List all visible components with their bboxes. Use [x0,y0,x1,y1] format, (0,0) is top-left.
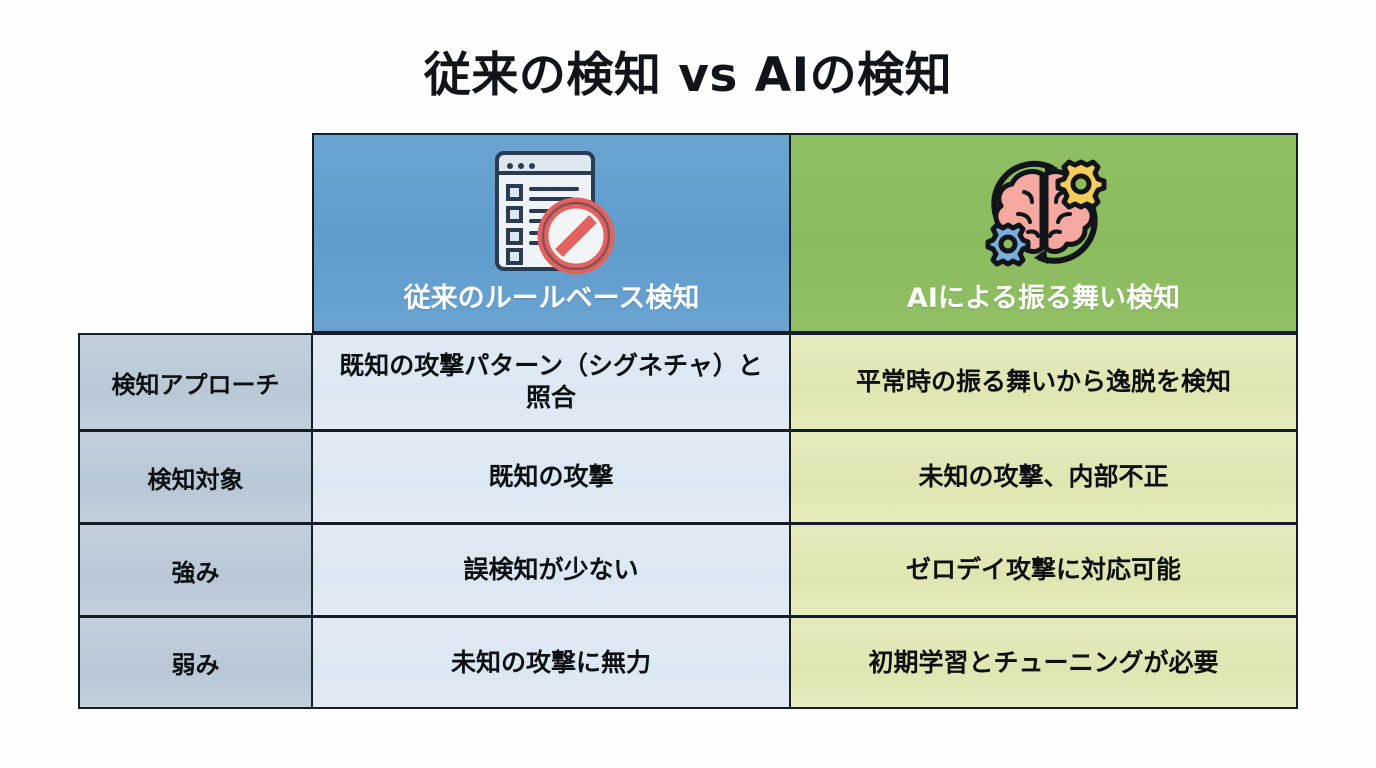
row-label: 検知対象 [78,430,312,523]
row-label: 検知アプローチ [78,333,312,430]
cell-text: 未知の攻撃、内部不正 [918,461,1168,493]
table-header-row: 従来のルールベース検知 [312,133,1298,333]
comparison-table: 従来のルールベース検知 [78,133,1298,707]
cell-ai-behavior: ゼロデイ攻撃に対応可能 [790,523,1298,616]
row-label: 弱み [78,616,312,709]
cell-text: 未知の攻撃に無力 [451,647,651,679]
cell-rule-based: 誤検知が少ない [312,523,790,616]
row-label-text: 弱み [172,645,220,680]
cell-ai-behavior: 平常時の振る舞いから逸脱を検知 [790,333,1298,430]
row-label: 強み [78,523,312,616]
column-header-label-rule-based: 従来のルールベース検知 [404,276,700,331]
cell-text: 誤検知が少ない [463,554,638,586]
row-label-text: 検知アプローチ [112,365,280,400]
table-row: 検知アプローチ 既知の攻撃パターン（シグネチャ）と照合 平常時の振る舞いから逸脱… [78,333,1298,430]
slide-canvas: 従来の検知 vs AIの検知 [0,0,1376,768]
row-label-text: 強み [172,553,220,588]
cell-rule-based: 既知の攻撃パターン（シグネチャ）と照合 [312,333,790,430]
cell-text: 既知の攻撃 [488,461,613,493]
table-row: 検知対象 既知の攻撃 未知の攻撃、内部不正 [78,430,1298,523]
cell-text: 既知の攻撃パターン（シグネチャ）と照合 [327,350,775,414]
cell-text: 平常時の振る舞いから逸脱を検知 [856,366,1231,398]
cell-rule-based: 既知の攻撃 [312,430,790,523]
brain-gears-icon [791,143,1296,278]
page-title: 従来の検知 vs AIの検知 [0,50,1376,102]
table-row: 弱み 未知の攻撃に無力 初期学習とチューニングが必要 [78,616,1298,709]
cell-text: 初期学習とチューニングが必要 [868,647,1218,679]
checklist-blocked-icon [314,143,789,278]
row-label-text: 検知対象 [148,460,244,495]
column-header-label-ai-behavior: AIによる振る舞い検知 [907,276,1180,331]
column-header-rule-based[interactable]: 従来のルールベース検知 [312,133,790,333]
column-header-ai-behavior[interactable]: AIによる振る舞い検知 [790,133,1298,333]
cell-ai-behavior: 初期学習とチューニングが必要 [790,616,1298,709]
cell-text: ゼロデイ攻撃に対応可能 [906,554,1181,586]
cell-ai-behavior: 未知の攻撃、内部不正 [790,430,1298,523]
table-row: 強み 誤検知が少ない ゼロデイ攻撃に対応可能 [78,523,1298,616]
table-body: 検知アプローチ 既知の攻撃パターン（シグネチャ）と照合 平常時の振る舞いから逸脱… [78,333,1298,709]
cell-rule-based: 未知の攻撃に無力 [312,616,790,709]
